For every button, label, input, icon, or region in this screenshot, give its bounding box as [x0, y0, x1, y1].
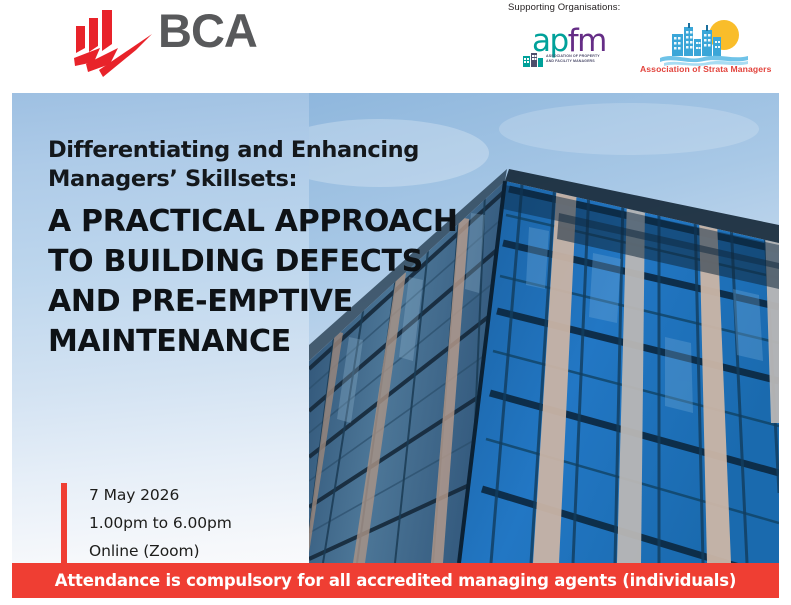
- hero-kicker-line-2: Managers’ Skillsets:: [48, 165, 488, 194]
- apfm-subtitle: ASSOCIATION OF PROPERTY AND FACILITY MAN…: [546, 54, 620, 63]
- strata-wordmark: Association of Strata Managers: [640, 64, 765, 74]
- hero-headline-line-2: TO BUILDING DEFECTS: [48, 242, 488, 282]
- banner-text: Attendance is compulsory for all accredi…: [55, 571, 736, 590]
- bca-logo: BCA: [62, 4, 267, 78]
- city-skyline-sun-icon: [658, 18, 750, 66]
- flyer-page: BCA Supporting Organisations:: [0, 0, 791, 605]
- event-venue: Online (Zoom): [89, 537, 232, 563]
- apfm-wordmark: apfm: [532, 24, 606, 58]
- supporting-organisations-label: Supporting Organisations:: [508, 2, 620, 13]
- compulsory-attendance-banner: Attendance is compulsory for all accredi…: [12, 563, 779, 598]
- details-lines: 7 May 2026 1.00pm to 6.00pm Online (Zoom…: [89, 481, 232, 563]
- event-time: 1.00pm to 6.00pm: [89, 509, 232, 537]
- apfm-logo: apfm ASSOCIATION OF PROPERTY AND FACILIT…: [514, 22, 624, 84]
- hero-headline-line-4: MAINTENANCE: [48, 322, 488, 362]
- hero-headline-line-3: AND PRE-EMPTIVE: [48, 282, 488, 322]
- event-date: 7 May 2026: [89, 481, 232, 509]
- hero-kicker-line-1: Differentiating and Enhancing: [48, 136, 488, 165]
- apfm-subtitle-line2: AND FACILITY MANAGERS: [546, 59, 620, 64]
- header-bar: BCA Supporting Organisations:: [0, 0, 791, 93]
- supporting-logo-row: apfm ASSOCIATION OF PROPERTY AND FACILIT…: [500, 18, 780, 88]
- supporting-organisations: Supporting Organisations:: [500, 2, 780, 90]
- details-accent-bar: [61, 483, 67, 563]
- hero-headline-line-1: A PRACTICAL APPROACH: [48, 202, 488, 242]
- bca-wordmark: BCA: [158, 5, 257, 57]
- hero-text-block: Differentiating and Enhancing Managers’ …: [48, 136, 488, 362]
- bca-chevron-mark-icon: [62, 4, 158, 78]
- hero-banner: Differentiating and Enhancing Managers’ …: [12, 93, 779, 563]
- strata-logo: Association of Strata Managers: [640, 18, 765, 84]
